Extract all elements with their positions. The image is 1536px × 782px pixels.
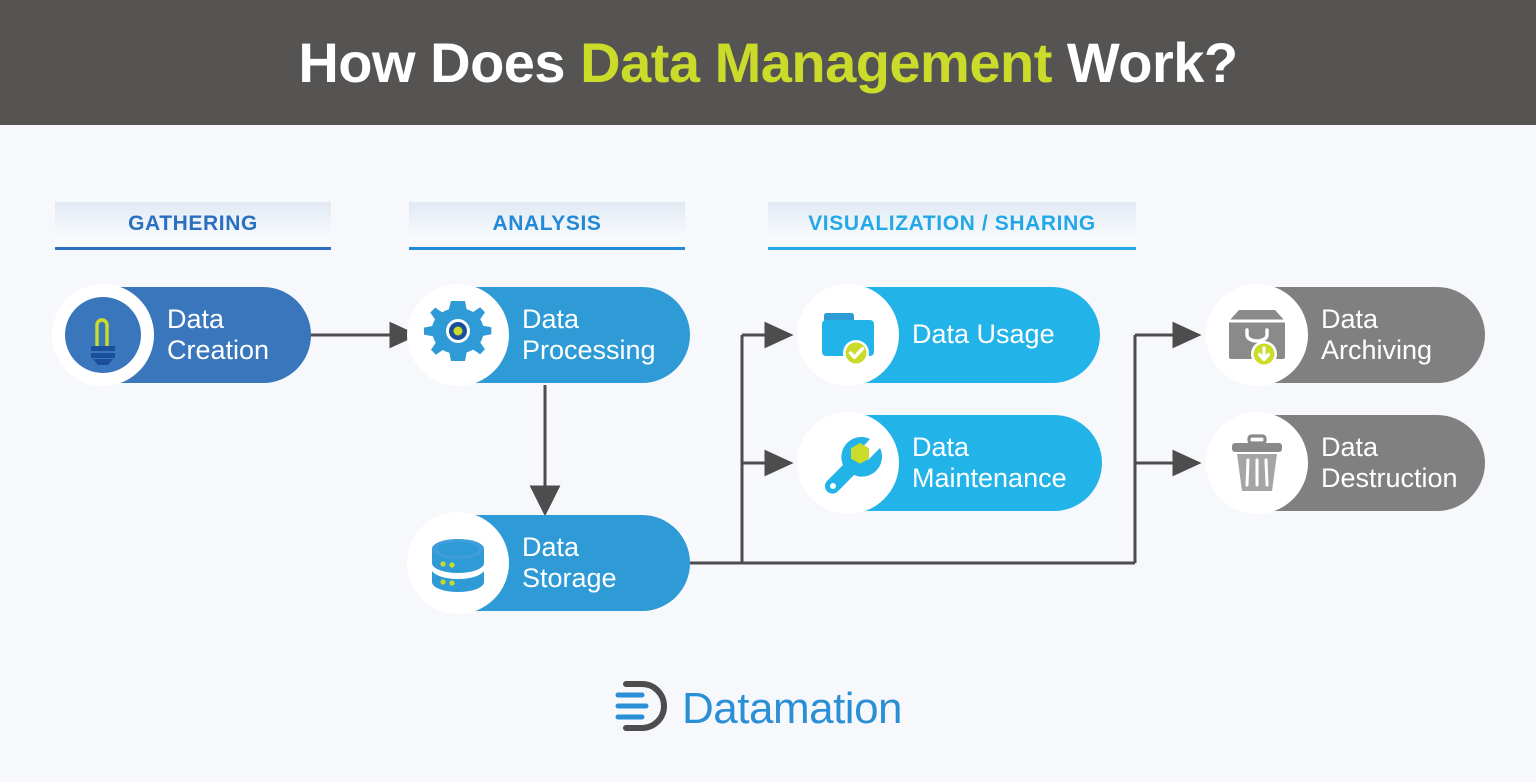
page-title-highlight: Data Management <box>580 31 1052 94</box>
datamation-logo-text: Datamation <box>682 684 902 734</box>
section-label-gathering: GATHERING <box>128 212 258 236</box>
trash-icon <box>1206 412 1308 514</box>
node-data-creation[interactable]: Data Creation <box>55 287 311 383</box>
node-label-data-destruction: Data Destruction <box>1321 432 1458 495</box>
datamation-logo: Datamation <box>612 678 902 739</box>
node-label-data-processing: Data Processing <box>522 304 656 367</box>
database-icon <box>407 512 509 614</box>
page-title: How Does Data Management Work? <box>298 30 1237 95</box>
node-data-storage[interactable]: Data Storage <box>410 515 690 611</box>
arrowhead-processing-to-storage <box>532 487 558 513</box>
section-label-visualization-sharing: VISUALIZATION / SHARING <box>808 212 1096 236</box>
datamation-d-mark-icon <box>612 678 674 739</box>
arrowhead-to-maintenance <box>766 452 790 474</box>
node-data-maintenance[interactable]: Data Maintenance <box>800 415 1102 511</box>
gear-icon <box>407 284 509 386</box>
lightbulb-icon <box>52 284 154 386</box>
archive-box-icon <box>1206 284 1308 386</box>
page-title-suffix: Work? <box>1052 31 1238 94</box>
diagram-canvas: GATHERING ANALYSIS VISUALIZATION / SHARI… <box>0 125 1536 782</box>
node-data-processing[interactable]: Data Processing <box>410 287 690 383</box>
section-rule-analysis <box>409 247 685 250</box>
node-label-data-usage: Data Usage <box>912 319 1055 350</box>
node-data-usage[interactable]: Data Usage <box>800 287 1100 383</box>
section-rule-gathering <box>55 247 331 250</box>
node-data-destruction[interactable]: Data Destruction <box>1209 415 1485 511</box>
header-band: How Does Data Management Work? <box>0 0 1536 125</box>
page-title-prefix: How Does <box>298 31 580 94</box>
section-rule-visualization-sharing <box>768 247 1136 250</box>
section-header-visualization-sharing: VISUALIZATION / SHARING <box>768 202 1136 246</box>
node-label-data-creation: Data Creation <box>167 304 269 367</box>
section-header-analysis: ANALYSIS <box>409 202 685 246</box>
section-label-analysis: ANALYSIS <box>492 212 601 236</box>
node-label-data-archiving: Data Archiving <box>1321 304 1432 367</box>
arrowhead-to-destruction <box>1174 452 1198 474</box>
folder-check-icon <box>797 284 899 386</box>
arrowhead-to-usage <box>766 324 790 346</box>
section-header-gathering: GATHERING <box>55 202 331 246</box>
node-data-archiving[interactable]: Data Archiving <box>1209 287 1485 383</box>
wrench-icon <box>797 412 899 514</box>
node-label-data-maintenance: Data Maintenance <box>912 432 1067 495</box>
arrowhead-to-archiving <box>1174 324 1198 346</box>
node-label-data-storage: Data Storage <box>522 532 617 595</box>
